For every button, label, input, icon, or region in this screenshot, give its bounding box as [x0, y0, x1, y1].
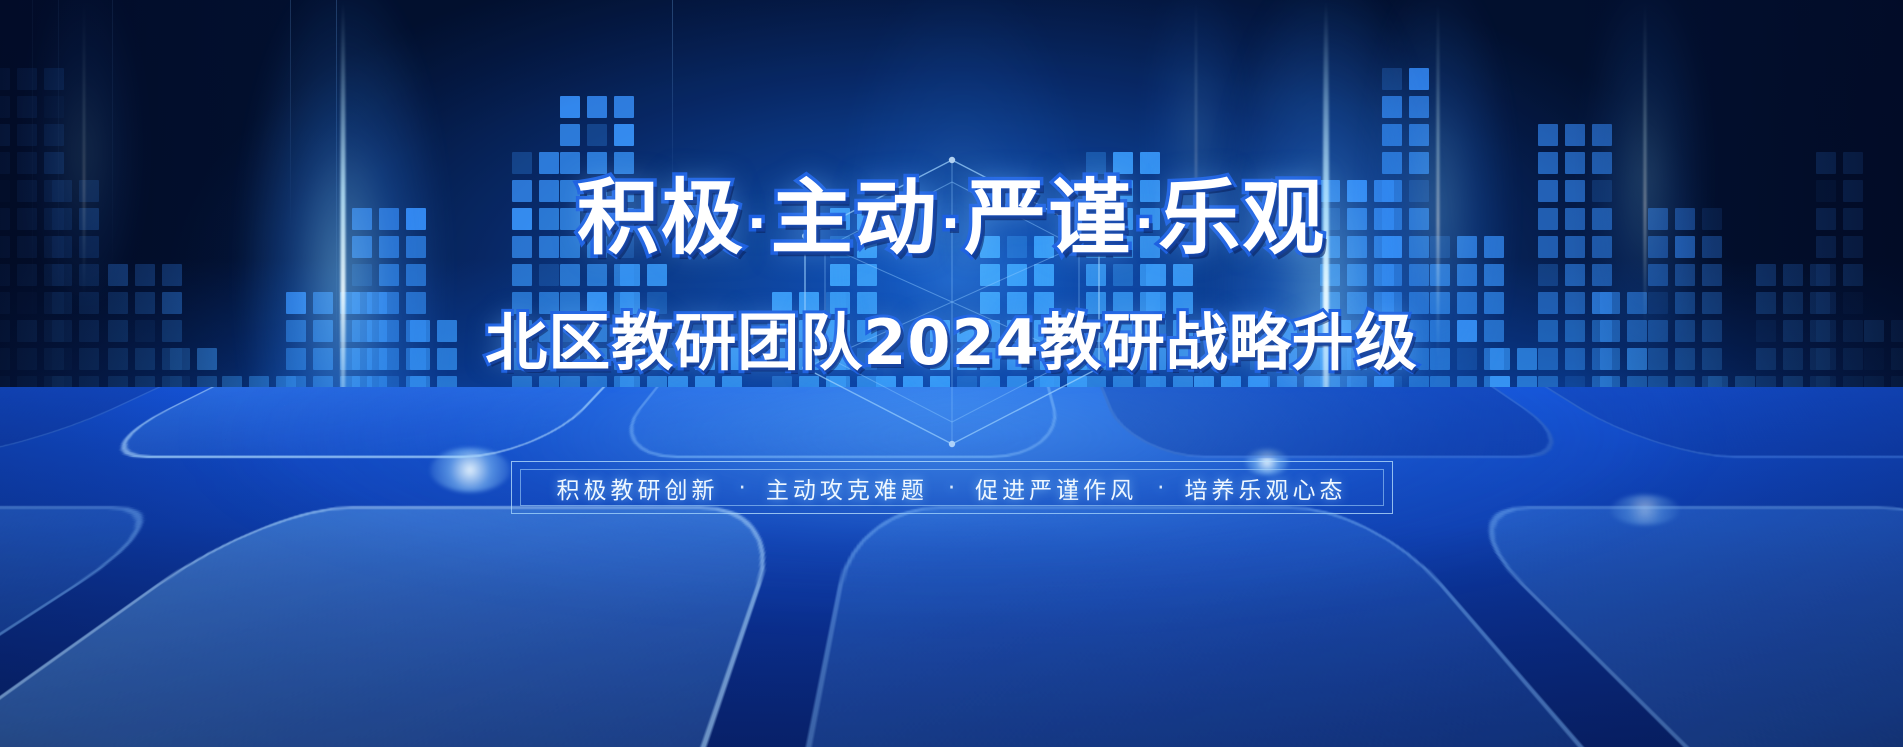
title-separator: · [745, 194, 771, 254]
tagline-item: 主动攻克难题 [766, 471, 928, 505]
tagline-bar: 积极教研创新·主动攻克难题·促进严谨作风·培养乐观心态 [511, 461, 1393, 514]
title-word: 乐观 [1158, 171, 1326, 266]
tagline-item: 促进严谨作风 [975, 471, 1137, 505]
tagline-separator: · [1151, 475, 1170, 501]
tagline-separator: · [733, 475, 752, 501]
tagline-separator: · [942, 475, 961, 501]
tagline-item: 培养乐观心态 [1184, 471, 1346, 505]
tagline-text: 积极教研创新·主动攻克难题·促进严谨作风·培养乐观心态 [511, 461, 1393, 514]
title-separator: · [939, 194, 965, 254]
title-word: 主动 [771, 171, 939, 266]
title-word: 积极 [577, 171, 745, 266]
tagline-item: 积极教研创新 [557, 471, 719, 505]
banner-main-title: 积极·主动·严谨·乐观 [0, 178, 1903, 260]
title-separator: · [1132, 194, 1158, 254]
title-word: 严谨 [964, 171, 1132, 266]
banner-content: 积极·主动·严谨·乐观 北区教研团队2024教研战略升级 积极教研创新·主动攻克… [0, 0, 1903, 747]
banner-subtitle: 北区教研团队2024教研战略升级 [0, 312, 1903, 374]
banner-stage: 积极·主动·严谨·乐观 北区教研团队2024教研战略升级 积极教研创新·主动攻克… [0, 0, 1903, 747]
